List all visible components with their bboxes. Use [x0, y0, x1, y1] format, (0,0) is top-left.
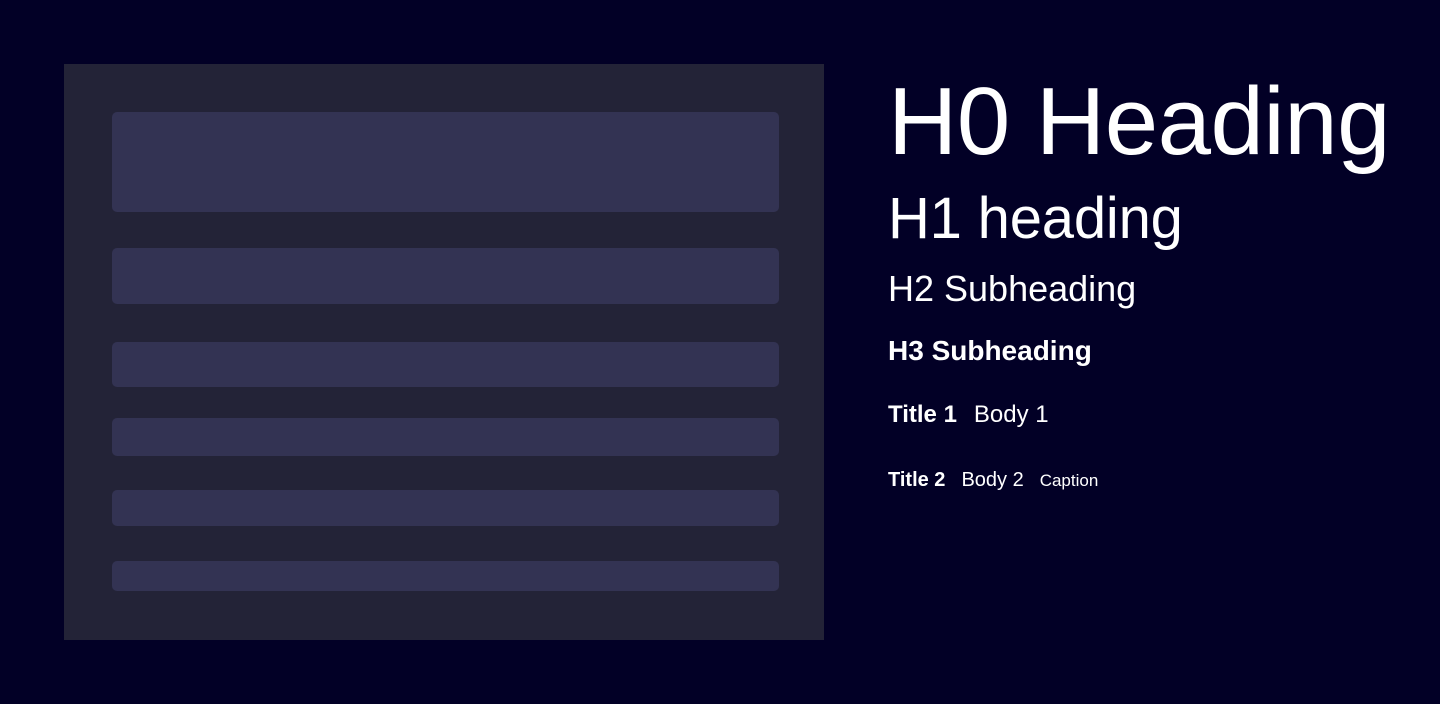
heading-h2-row: H2 Subheading	[888, 258, 1408, 320]
skeleton-placeholder-panel	[64, 64, 824, 640]
heading-h0-row: H0 Heading	[888, 64, 1408, 180]
placeholder-bar	[112, 342, 779, 387]
title-2-label: Title 2	[888, 448, 945, 512]
typography-specimen-column: H0 Heading H1 heading H2 Subheading H3 S…	[888, 64, 1408, 640]
heading-h0-label: H0 Heading	[888, 64, 1390, 180]
title-1-label: Title 1	[888, 382, 957, 448]
placeholder-bar	[112, 490, 779, 526]
heading-h2-label: H2 Subheading	[888, 258, 1136, 320]
heading-h1-row: H1 heading	[888, 180, 1408, 258]
heading-h3-label: H3 Subheading	[888, 320, 1092, 382]
heading-h1-label: H1 heading	[888, 180, 1183, 258]
body-2-label: Body 2	[961, 448, 1023, 512]
caption-label: Caption	[1040, 449, 1099, 513]
placeholder-bar	[112, 248, 779, 304]
title-body-2-row: Title 2 Body 2 Caption	[888, 448, 1408, 512]
body-1-label: Body 1	[974, 382, 1049, 448]
placeholder-bar	[112, 561, 779, 591]
heading-h3-row: H3 Subheading	[888, 320, 1408, 382]
placeholder-bar	[112, 112, 779, 212]
title-body-1-row: Title 1 Body 1	[888, 382, 1408, 448]
placeholder-bar	[112, 418, 779, 456]
